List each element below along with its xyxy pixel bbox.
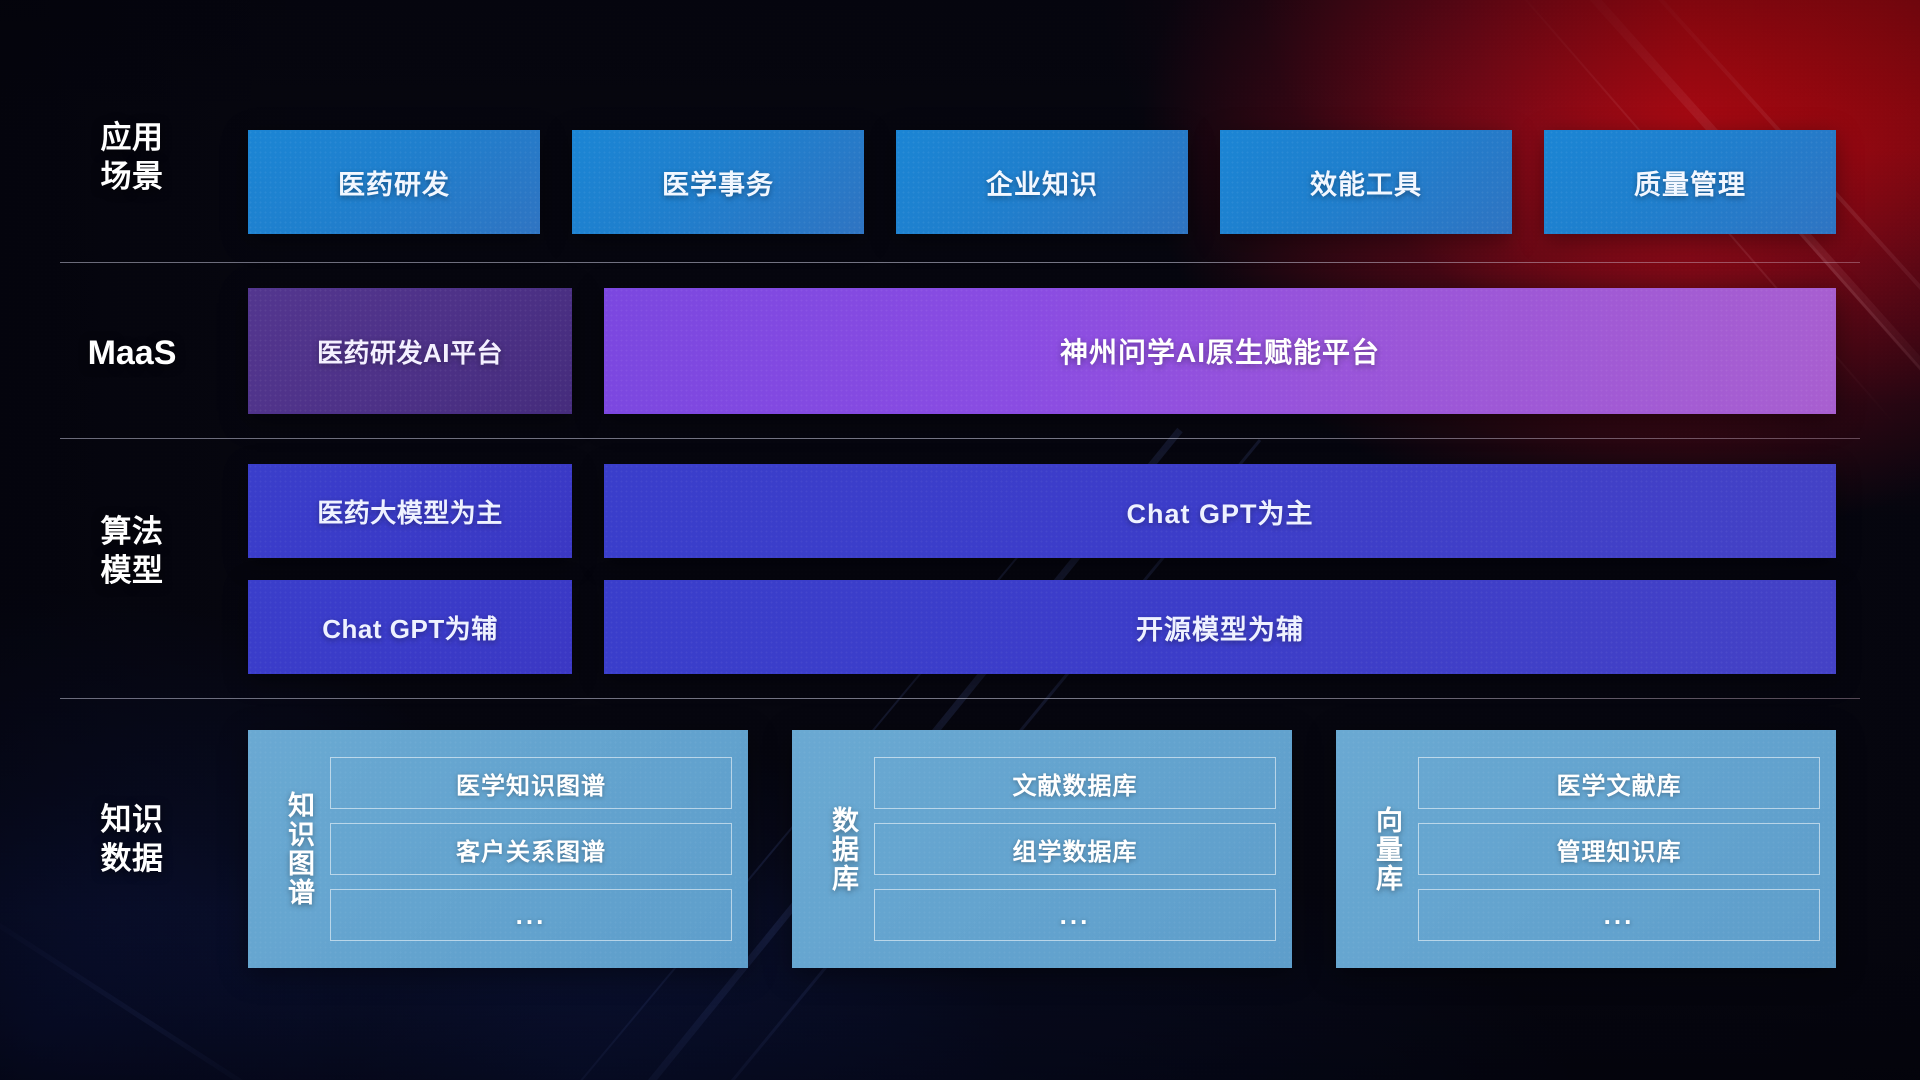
maas-box-shenzhou-wenxue-platform[interactable]: 神州问学AI原生赋能平台: [604, 288, 1836, 414]
knowledge-group-title: 数据库: [812, 806, 858, 893]
knowledge-group-database[interactable]: 数据库 文献数据库 组学数据库 ...: [792, 730, 1292, 968]
algorithm-row-secondary: Chat GPT为辅 开源模型为辅: [248, 580, 1836, 674]
scenario-label: 医药研发: [338, 163, 450, 202]
maas-right-label: 神州问学AI原生赋能平台: [1060, 331, 1380, 371]
knowledge-item[interactable]: 医学知识图谱: [330, 757, 732, 809]
knowledge-item-list: 医学文献库 管理知识库 ...: [1418, 744, 1820, 954]
algorithm-box-chatgpt-secondary[interactable]: Chat GPT为辅: [248, 580, 572, 674]
scenario-box-enterprise-knowledge[interactable]: 企业知识: [896, 130, 1188, 234]
divider-scenarios-maas: [60, 262, 1860, 263]
row-label-algorithm-line1: 算法: [72, 512, 192, 551]
algorithm-label: 开源模型为辅: [1136, 608, 1304, 647]
knowledge-group-title: 知识图谱: [268, 791, 314, 907]
scenario-box-row: 医药研发 医学事务 企业知识 效能工具 质量管理: [248, 130, 1836, 234]
knowledge-item[interactable]: 组学数据库: [874, 823, 1276, 875]
knowledge-group-knowledge-graph[interactable]: 知识图谱 医学知识图谱 客户关系图谱 ...: [248, 730, 748, 968]
scenario-label: 质量管理: [1634, 163, 1746, 202]
knowledge-group-row: 知识图谱 医学知识图谱 客户关系图谱 ... 数据库 文献数据库 组学数据库 .…: [248, 730, 1836, 968]
algorithm-box-chatgpt-primary[interactable]: Chat GPT为主: [604, 464, 1836, 558]
scenario-box-efficiency-tools[interactable]: 效能工具: [1220, 130, 1512, 234]
scenario-label: 企业知识: [986, 163, 1098, 202]
maas-left-label: 医药研发AI平台: [317, 333, 503, 370]
algorithm-row-primary: 医药大模型为主 Chat GPT为主: [248, 464, 1836, 558]
scenario-label: 效能工具: [1310, 163, 1422, 202]
row-label-scenarios: 应用 场景: [72, 118, 192, 196]
knowledge-item[interactable]: 文献数据库: [874, 757, 1276, 809]
scenario-box-drug-rd[interactable]: 医药研发: [248, 130, 540, 234]
row-label-scenarios-line1: 应用: [72, 118, 192, 157]
knowledge-item-more[interactable]: ...: [874, 889, 1276, 941]
row-label-knowledge: 知识 数据: [72, 800, 192, 878]
knowledge-item[interactable]: 医学文献库: [1418, 757, 1820, 809]
scenario-box-quality-management[interactable]: 质量管理: [1544, 130, 1836, 234]
algorithm-box-pharma-llm-primary[interactable]: 医药大模型为主: [248, 464, 572, 558]
algorithm-label: 医药大模型为主: [317, 493, 503, 530]
knowledge-item-more[interactable]: ...: [330, 889, 732, 941]
maas-box-row: 医药研发AI平台 神州问学AI原生赋能平台: [248, 288, 1836, 414]
row-label-knowledge-line2: 数据: [72, 839, 192, 878]
row-label-algorithm: 算法 模型: [72, 512, 192, 590]
algorithm-box-rows: 医药大模型为主 Chat GPT为主 Chat GPT为辅 开源模型为辅: [248, 464, 1836, 674]
row-label-knowledge-line1: 知识: [72, 800, 192, 839]
scenario-label: 医学事务: [662, 163, 774, 202]
knowledge-item-more[interactable]: ...: [1418, 889, 1820, 941]
row-label-algorithm-line2: 模型: [72, 551, 192, 590]
maas-box-drug-rd-ai-platform[interactable]: 医药研发AI平台: [248, 288, 572, 414]
row-label-scenarios-line2: 场景: [72, 157, 192, 196]
algorithm-label: Chat GPT为辅: [322, 609, 497, 646]
divider-maas-algorithm: [60, 438, 1860, 439]
algorithm-label: Chat GPT为主: [1126, 492, 1313, 531]
divider-algorithm-knowledge: [60, 698, 1860, 699]
algorithm-box-opensource-secondary[interactable]: 开源模型为辅: [604, 580, 1836, 674]
knowledge-group-title: 向量库: [1356, 806, 1402, 893]
knowledge-group-vector-store[interactable]: 向量库 医学文献库 管理知识库 ...: [1336, 730, 1836, 968]
knowledge-item[interactable]: 客户关系图谱: [330, 823, 732, 875]
row-label-maas: MaaS: [72, 332, 192, 375]
knowledge-item[interactable]: 管理知识库: [1418, 823, 1820, 875]
knowledge-item-list: 文献数据库 组学数据库 ...: [874, 744, 1276, 954]
knowledge-item-list: 医学知识图谱 客户关系图谱 ...: [330, 744, 732, 954]
architecture-diagram: 应用 场景 医药研发 医学事务 企业知识 效能工具 质量管理 MaaS 医药研发…: [0, 0, 1920, 1080]
scenario-box-medical-affairs[interactable]: 医学事务: [572, 130, 864, 234]
